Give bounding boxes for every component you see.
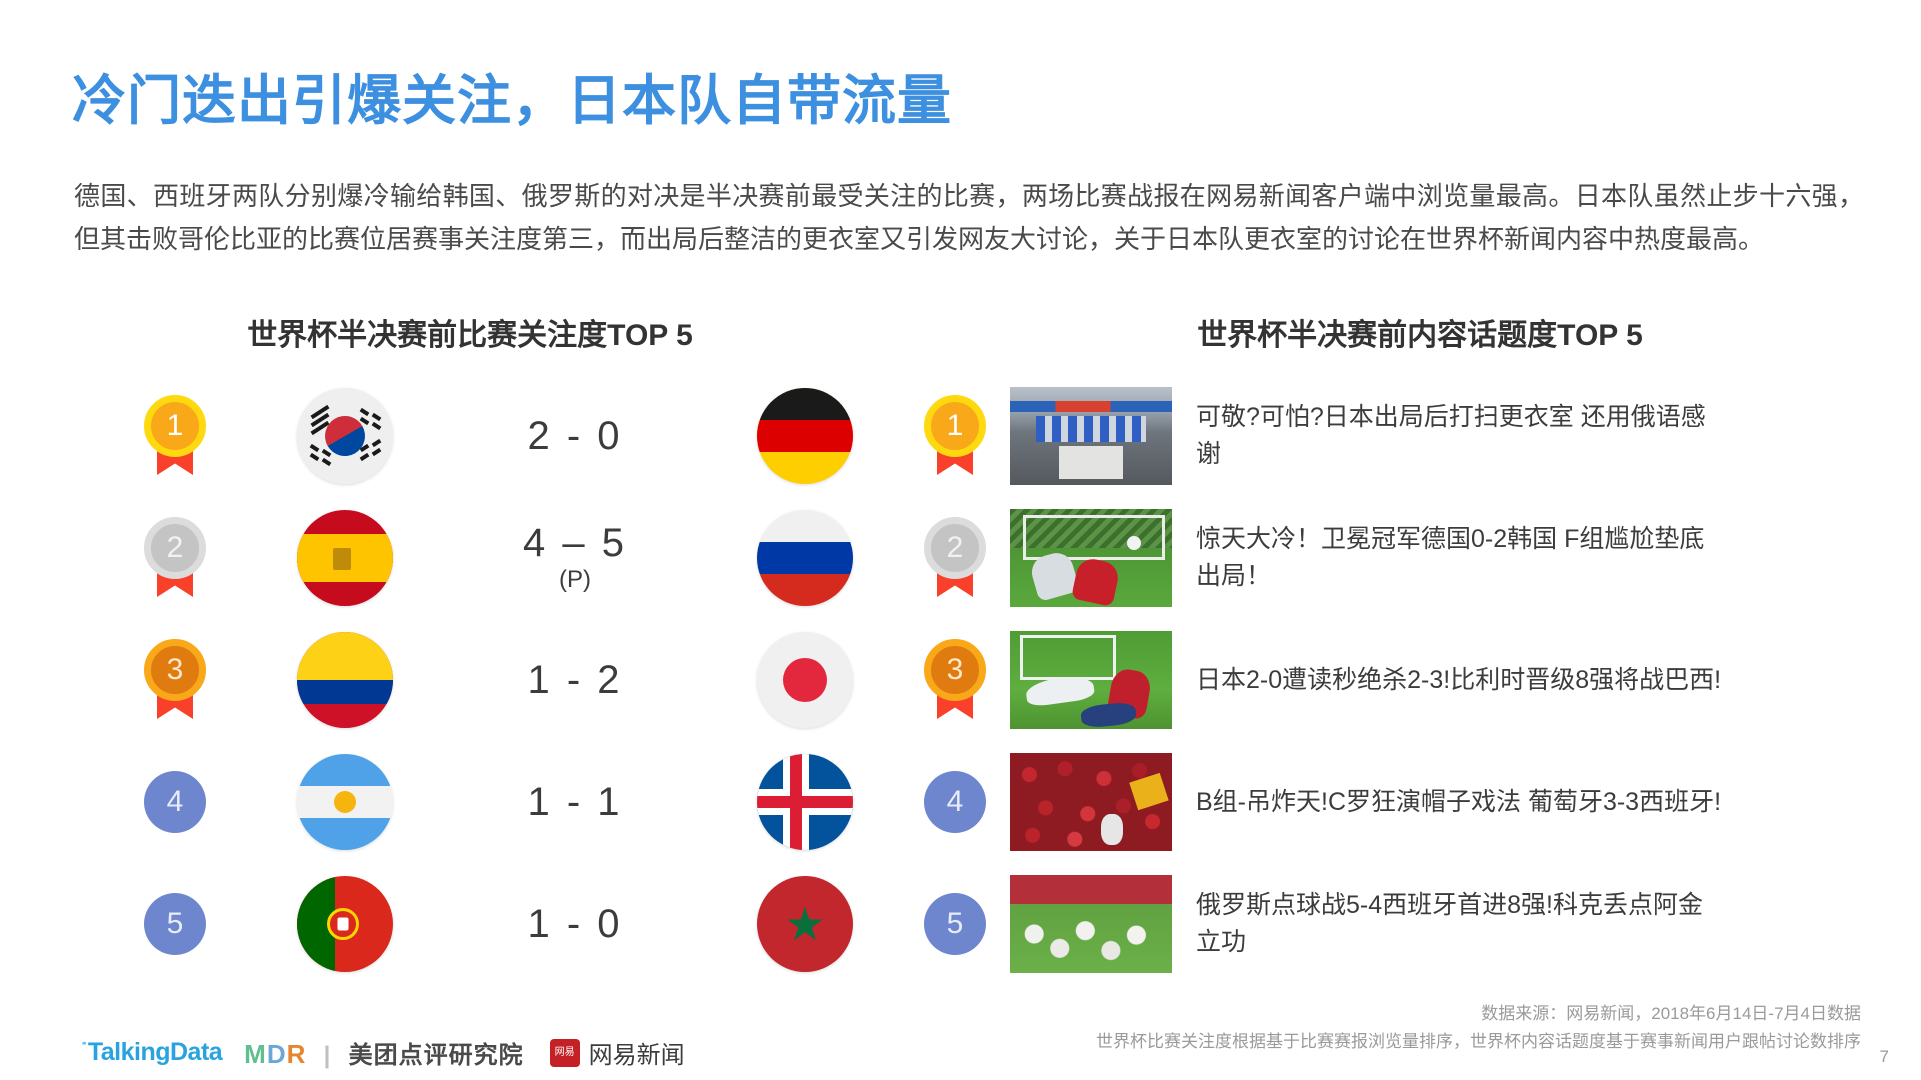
page-title: 冷门迭出引爆关注，日本队自带流量 xyxy=(72,56,952,135)
medal-bronze-icon: 3 xyxy=(144,639,206,721)
score-cell: 1 - 1 xyxy=(460,781,690,823)
table-row: 2 4 – 5 (P) xyxy=(120,497,970,619)
list-item[interactable]: 2 惊天大冷！卫冕冠军德国0-2韩国 F组尴尬垫底出局！ xyxy=(900,497,1900,619)
logo-dot: ˙ xyxy=(80,1038,88,1066)
source-line-2: 世界杯比赛关注度根据基于比赛赛报浏览量排序，世界杯内容话题度基于赛事新闻用户跟帖… xyxy=(1096,1028,1861,1056)
medal-gold-icon: 1 xyxy=(144,395,206,477)
match-score: 1 - 0 xyxy=(527,903,622,945)
score-note: (P) xyxy=(559,566,591,594)
medal-gold-icon: 1 xyxy=(924,395,986,477)
team-b-flag-cell xyxy=(690,754,920,850)
match-score: 4 – 5 xyxy=(523,522,627,564)
left-section-heading: 世界杯半决赛前比赛关注度TOP 5 xyxy=(0,310,940,354)
match-score: 1 - 1 xyxy=(527,781,622,823)
topic-attention-list: 1 可敬?可怕?日本出局后打扫更衣室 还用俄语感谢 2 惊天大冷！卫冕冠军德国0… xyxy=(900,375,1900,985)
mdr-logo-cn: 美团点评研究院 xyxy=(349,1042,524,1069)
table-row: 5 1 - 0 ★ xyxy=(120,863,970,985)
rank-cell: 4 xyxy=(900,771,1010,833)
team-b-flag-cell: ★ xyxy=(690,876,920,972)
team-a-flag-cell xyxy=(230,388,460,484)
mdr-d: D xyxy=(267,1039,287,1069)
mdr-r: R xyxy=(287,1039,307,1069)
flag-portugal-icon xyxy=(297,876,393,972)
right-section-heading: 世界杯半决赛前内容话题度TOP 5 xyxy=(950,310,1890,354)
list-item[interactable]: 3 日本2-0遭读秒绝杀2-3!比利时晋级8强将战巴西! xyxy=(900,619,1900,741)
list-item[interactable]: 1 可敬?可怕?日本出局后打扫更衣室 还用俄语感谢 xyxy=(900,375,1900,497)
team-a-flag-cell xyxy=(230,754,460,850)
rank-number: 4 xyxy=(167,785,184,819)
table-row: 3 1 - 2 xyxy=(120,619,970,741)
rank-cell: 5 xyxy=(900,893,1010,955)
logo-bar: ˙TalkingData MDR | 美团点评研究院 网易 网易新闻 xyxy=(80,1035,685,1070)
list-item[interactable]: 5 俄罗斯点球战5-4西班牙首进8强!科克丢点阿金立功 xyxy=(900,863,1900,985)
thumbnail-russia-celebrate[interactable] xyxy=(1010,875,1172,973)
page-number: 7 xyxy=(1880,1047,1889,1067)
topic-headline[interactable]: 俄罗斯点球战5-4西班牙首进8强!科克丢点阿金立功 xyxy=(1196,887,1726,961)
rank-cell: 2 xyxy=(900,517,1010,599)
rank-number: 3 xyxy=(924,639,986,701)
flag-russia-icon xyxy=(757,510,853,606)
rank-number: 5 xyxy=(167,907,184,941)
team-b-flag-cell xyxy=(690,632,920,728)
rank-badge-plain: 4 xyxy=(924,771,986,833)
rank-number: 2 xyxy=(924,517,986,579)
flag-iceland-icon xyxy=(757,754,853,850)
thumbnail-spain-fans[interactable] xyxy=(1010,753,1172,851)
score-cell: 1 - 2 xyxy=(460,659,690,701)
flag-spain-icon xyxy=(297,510,393,606)
flag-argentina-icon xyxy=(297,754,393,850)
flag-japan-icon xyxy=(757,632,853,728)
score-cell: 2 - 0 xyxy=(460,415,690,457)
intro-paragraph: 德国、西班牙两队分别爆冷输给韩国、俄罗斯的对决是半决赛前最受关注的比赛，两场比赛… xyxy=(74,175,1864,261)
rank-cell: 5 xyxy=(120,893,230,955)
netease-mark-icon: 网易 xyxy=(550,1039,580,1067)
mdr-logo: MDR | 美团点评研究院 xyxy=(244,1035,523,1070)
list-item[interactable]: 4 B组-吊炸天!C罗狂演帽子戏法 葡萄牙3-3西班牙! xyxy=(900,741,1900,863)
topic-headline[interactable]: B组-吊炸天!C罗狂演帽子戏法 葡萄牙3-3西班牙! xyxy=(1196,784,1721,821)
table-row: 1 xyxy=(120,375,970,497)
rank-number: 3 xyxy=(144,639,206,701)
source-line-1: 数据来源：网易新闻，2018年6月14日-7月4日数据 xyxy=(1096,1000,1861,1028)
medal-bronze-icon: 3 xyxy=(924,639,986,721)
match-score: 2 - 0 xyxy=(527,415,622,457)
rank-cell: 3 xyxy=(120,639,230,721)
rank-number: 4 xyxy=(947,785,964,819)
thumbnail-goal-line-save[interactable] xyxy=(1010,509,1172,607)
rank-number: 1 xyxy=(144,395,206,457)
rank-cell: 3 xyxy=(900,639,1010,721)
match-score: 1 - 2 xyxy=(527,659,622,701)
netease-logo: 网易 网易新闻 xyxy=(550,1035,685,1070)
rank-cell: 2 xyxy=(120,517,230,599)
slide-root: 冷门迭出引爆关注，日本队自带流量 德国、西班牙两队分别爆冷输给韩国、俄罗斯的对决… xyxy=(0,0,1921,1080)
topic-headline[interactable]: 日本2-0遭读秒绝杀2-3!比利时晋级8强将战巴西! xyxy=(1196,662,1721,699)
team-a-flag-cell xyxy=(230,876,460,972)
rank-cell: 1 xyxy=(120,395,230,477)
topic-headline[interactable]: 惊天大冷！卫冕冠军德国0-2韩国 F组尴尬垫底出局！ xyxy=(1196,521,1726,595)
match-attention-list: 1 xyxy=(120,375,970,985)
team-b-flag-cell xyxy=(690,510,920,606)
medal-silver-icon: 2 xyxy=(144,517,206,599)
rank-number: 1 xyxy=(924,395,986,457)
medal-silver-icon: 2 xyxy=(924,517,986,599)
mdr-m: M xyxy=(244,1039,267,1069)
netease-logo-text: 网易新闻 xyxy=(589,1035,685,1070)
rank-number: 2 xyxy=(144,517,206,579)
rank-badge-plain: 5 xyxy=(144,893,206,955)
flag-south-korea-icon xyxy=(297,388,393,484)
flag-germany-icon xyxy=(757,388,853,484)
talkingdata-logo: ˙TalkingData xyxy=(80,1038,222,1067)
rank-cell: 4 xyxy=(120,771,230,833)
talkingdata-logo-text: TalkingData xyxy=(88,1038,222,1066)
team-b-flag-cell xyxy=(690,388,920,484)
score-cell: 4 – 5 (P) xyxy=(460,522,690,594)
thumbnail-locker-room[interactable] xyxy=(1010,387,1172,485)
source-note: 数据来源：网易新闻，2018年6月14日-7月4日数据 世界杯比赛关注度根据基于… xyxy=(1096,1000,1861,1056)
topic-headline[interactable]: 可敬?可怕?日本出局后打扫更衣室 还用俄语感谢 xyxy=(1196,399,1726,473)
team-a-flag-cell xyxy=(230,632,460,728)
rank-cell: 1 xyxy=(900,395,1010,477)
flag-colombia-icon xyxy=(297,632,393,728)
score-cell: 1 - 0 xyxy=(460,903,690,945)
thumbnail-japan-belgium[interactable] xyxy=(1010,631,1172,729)
table-row: 4 1 - 1 xyxy=(120,741,970,863)
logo-divider: | xyxy=(324,1042,332,1069)
rank-badge-plain: 4 xyxy=(144,771,206,833)
team-a-flag-cell xyxy=(230,510,460,606)
rank-number: 5 xyxy=(947,907,964,941)
rank-badge-plain: 5 xyxy=(924,893,986,955)
flag-morocco-icon: ★ xyxy=(757,876,853,972)
